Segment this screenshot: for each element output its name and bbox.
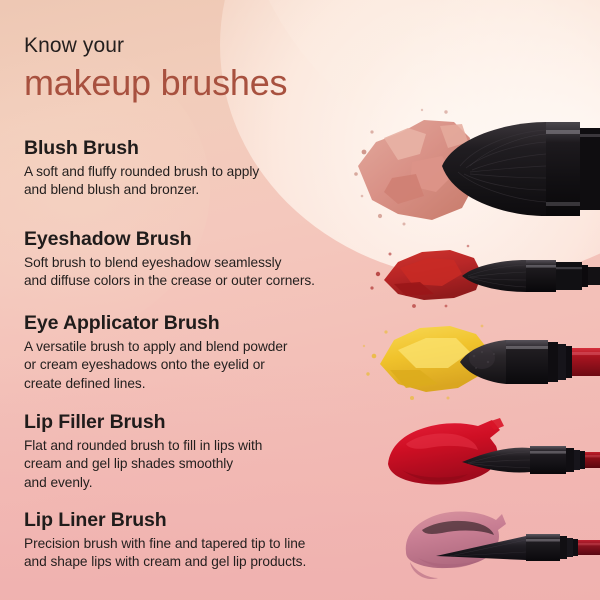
entry-description: A versatile brush to apply and blend pow… — [24, 338, 396, 393]
poster-header: Know your makeup brushes — [24, 33, 424, 104]
entry-eye-applicator-brush: Eye Applicator Brush A versatile brush t… — [24, 311, 396, 393]
entry-description: Flat and rounded brush to fill in lips w… — [24, 437, 396, 492]
infographic-poster: Know your makeup brushes Blush Brush A s… — [0, 0, 600, 600]
entry-title: Eye Applicator Brush — [24, 311, 396, 335]
page-title-line1: Know your — [24, 33, 424, 59]
entry-title: Lip Filler Brush — [24, 410, 396, 434]
entry-blush-brush: Blush Brush A soft and fluffy rounded br… — [24, 136, 396, 200]
entry-description: Precision brush with fine and tapered ti… — [24, 535, 396, 572]
entry-title: Lip Liner Brush — [24, 508, 396, 532]
entry-lip-filler-brush: Lip Filler Brush Flat and rounded brush … — [24, 410, 396, 492]
entry-description: Soft brush to blend eyeshadow seamlessly… — [24, 254, 396, 291]
page-title-line2: makeup brushes — [24, 61, 424, 104]
entry-eyeshadow-brush: Eyeshadow Brush Soft brush to blend eyes… — [24, 227, 396, 291]
entry-lip-liner-brush: Lip Liner Brush Precision brush with fin… — [24, 508, 396, 572]
entry-title: Eyeshadow Brush — [24, 227, 396, 251]
entry-title: Blush Brush — [24, 136, 396, 160]
entry-description: A soft and fluffy rounded brush to apply… — [24, 163, 396, 200]
